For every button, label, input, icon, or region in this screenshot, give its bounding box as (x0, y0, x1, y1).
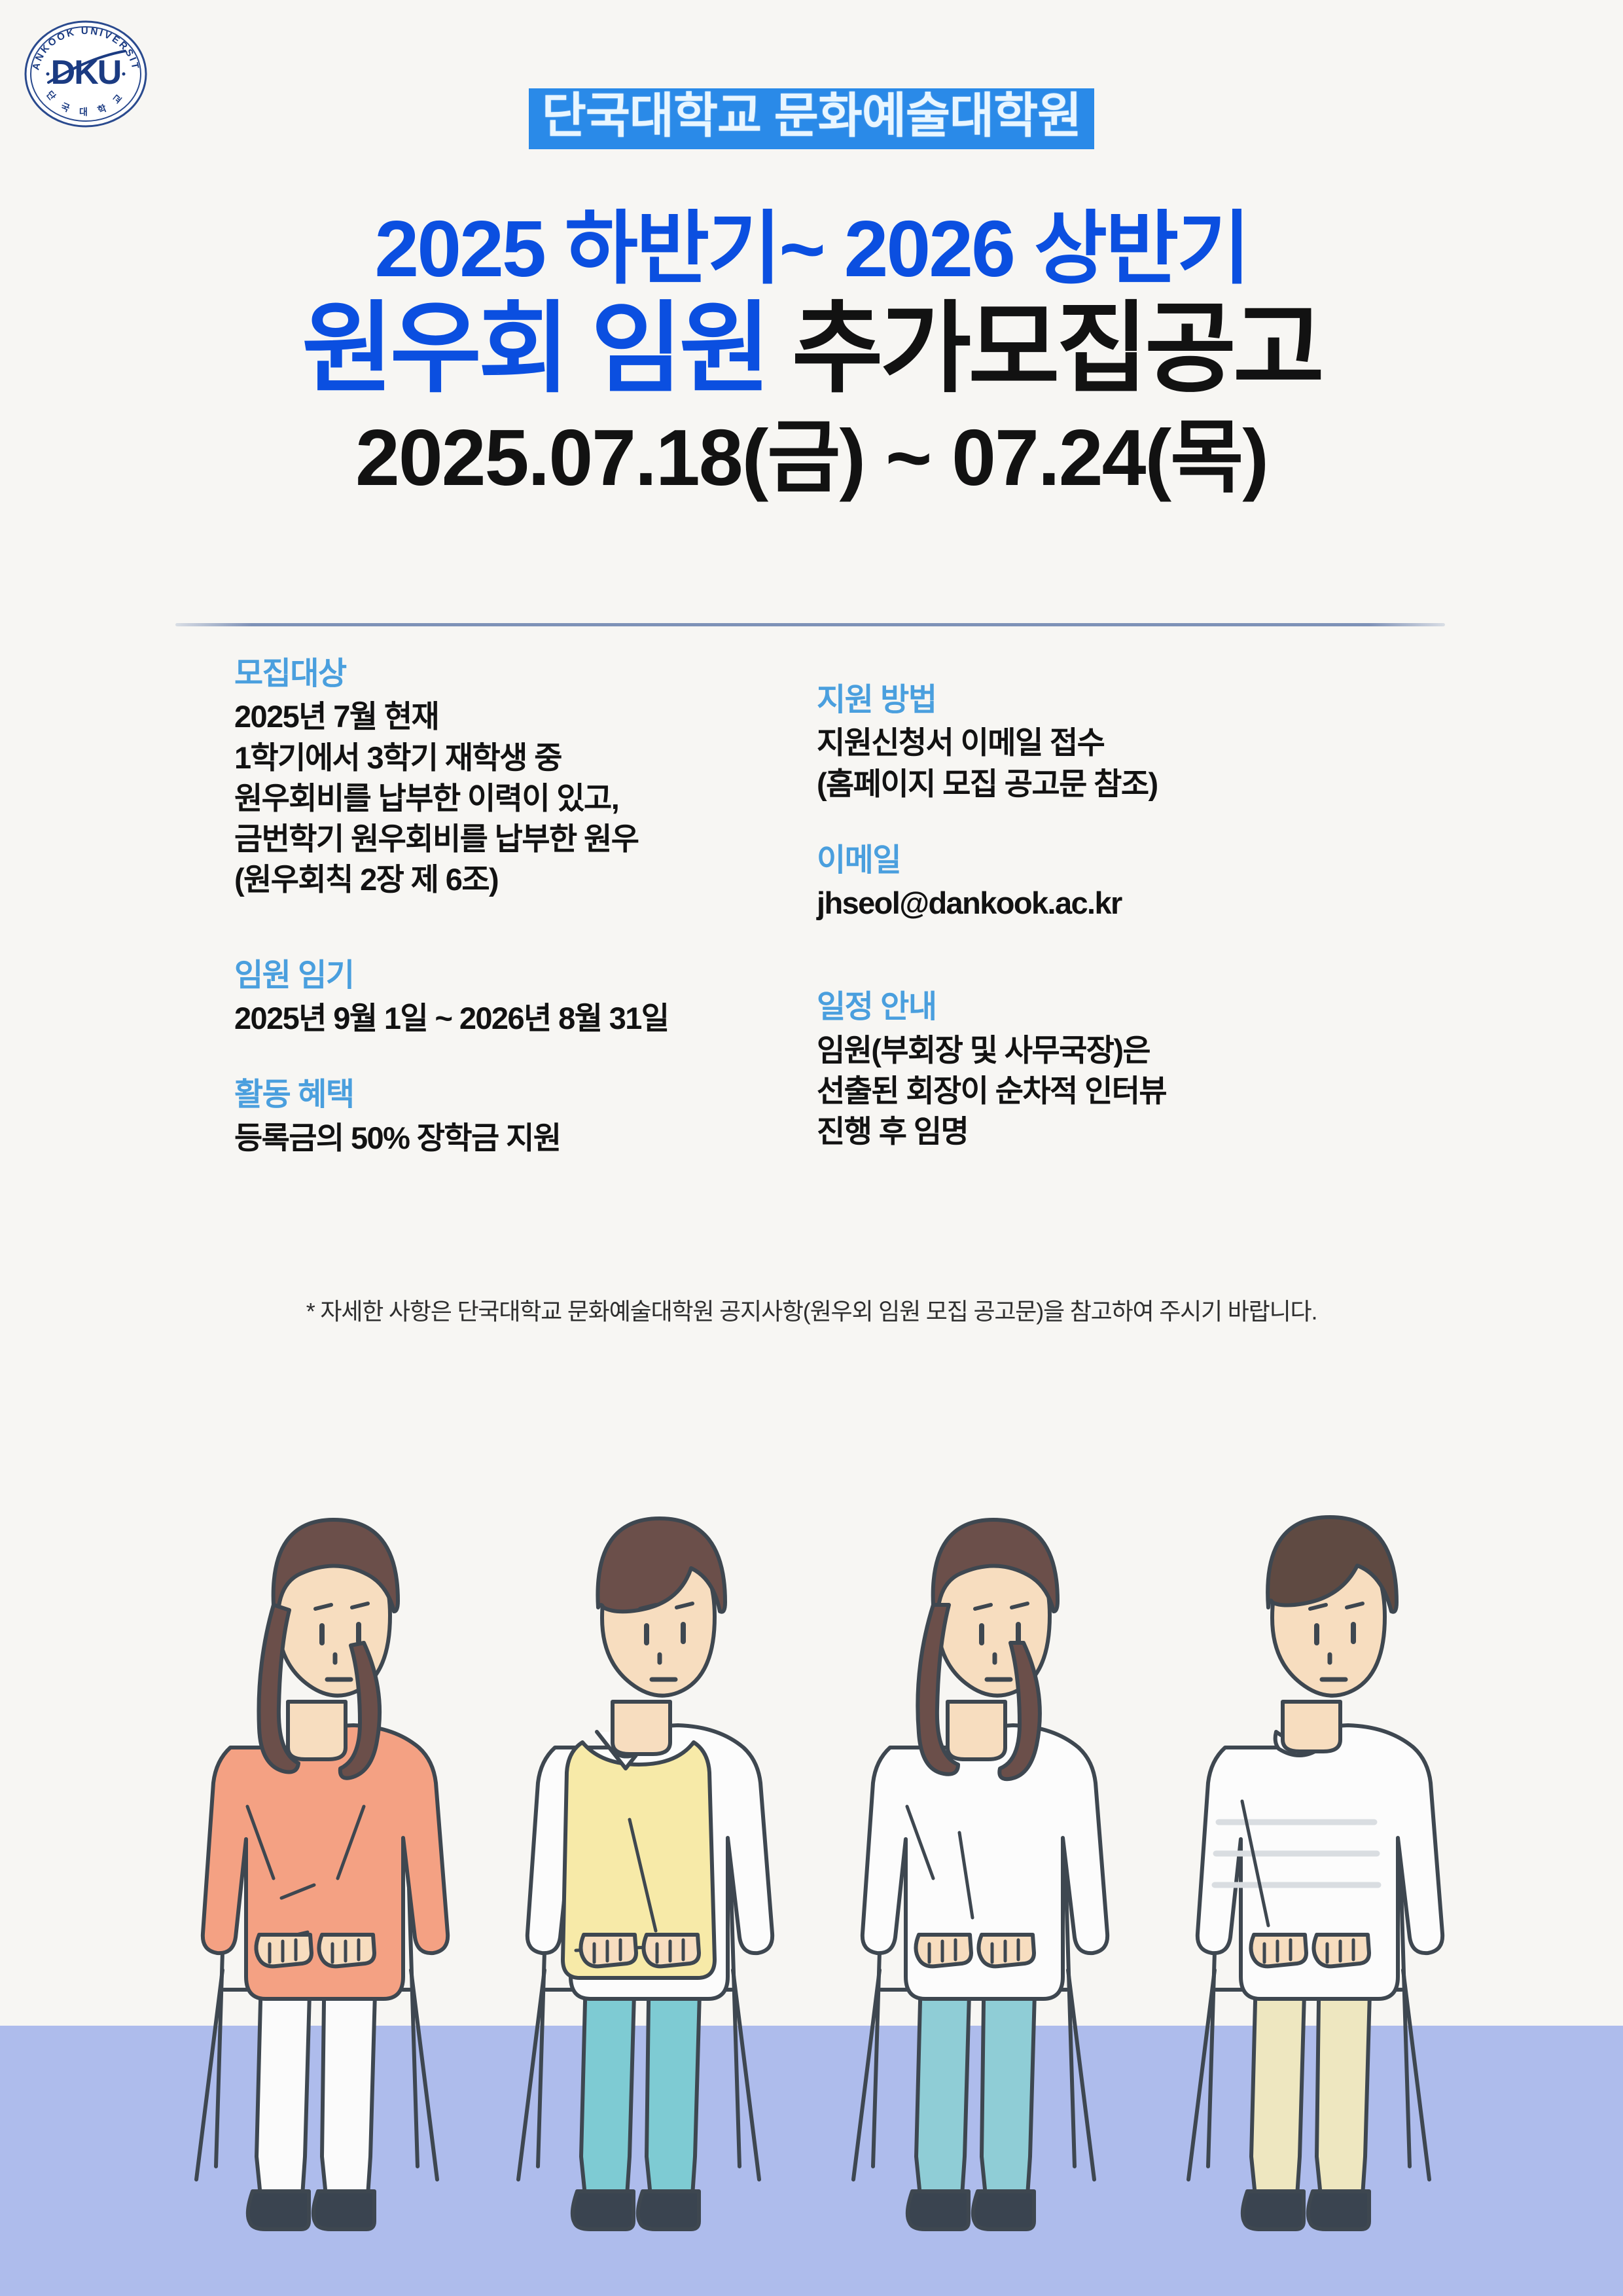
illustration-four-people-seated (0, 1361, 1623, 2296)
info-heading: 활동 혜택 (234, 1075, 784, 1115)
info-heading: 모집대상 (234, 655, 784, 694)
info-body: 2025년 7월 현재 1학기에서 3학기 재학생 중 원우회비를 납부한 이력… (234, 696, 784, 899)
banner-label: 단국대학교 문화예술대학원 (529, 88, 1095, 149)
info-column-right: 지원 방법 지원신청서 이메일 접수 (홈페이지 모집 공고문 참조) 이메일 … (817, 681, 1406, 1160)
info-block-how-to-apply: 지원 방법 지원신청서 이메일 접수 (홈페이지 모집 공고문 참조) (817, 681, 1406, 804)
footnote: * 자세한 사항은 단국대학교 문화예술대학원 공지사항(원우외 임원 모집 공… (0, 1293, 1623, 1327)
info-body: 지원신청서 이메일 접수 (홈페이지 모집 공고문 참조) (817, 723, 1406, 804)
floor-band (0, 2026, 1623, 2296)
logo-monogram: DKU (51, 54, 121, 92)
contact-email[interactable]: jhseol@dankook.ac.kr (817, 883, 1406, 924)
poster-canvas: DANKOOK UNIVERSITY 단 국 대 학 교 DKU 단국대학교 문… (0, 0, 1623, 2296)
spacer (817, 931, 1406, 988)
info-body: 등록금의 50% 장학금 지원 (234, 1118, 784, 1158)
spacer (234, 908, 784, 956)
info-block-term: 임원 임기 2025년 9월 1일 ~ 2026년 8월 31일 (234, 956, 784, 1039)
banner: 단국대학교 문화예술대학원 (0, 88, 1623, 149)
info-heading: 임원 임기 (234, 956, 784, 996)
info-block-email: 이메일 jhseol@dankook.ac.kr (817, 841, 1406, 924)
info-block-eligibility: 모집대상 2025년 7월 현재 1학기에서 3학기 재학생 중 원우회비를 납… (234, 655, 784, 900)
spacer (817, 812, 1406, 841)
title-period: 2025 하반기~ 2026 상반기 (0, 206, 1623, 293)
title-dates: 2025.07.18(금) ~ 07.24(목) (0, 413, 1623, 503)
info-heading: 이메일 (817, 841, 1406, 880)
info-block-benefit: 활동 혜택 등록금의 50% 장학금 지원 (234, 1075, 784, 1158)
title-block: 2025 하반기~ 2026 상반기 원우회 임원 추가모집공고 2025.07… (0, 206, 1623, 503)
title-main-blue: 원우회 임원 (302, 293, 767, 404)
title-main-black: 추가모집공고 (792, 293, 1321, 404)
info-column-left: 모집대상 2025년 7월 현재 1학기에서 3학기 재학생 중 원우회비를 납… (234, 655, 784, 1166)
spacer (234, 1047, 784, 1075)
info-heading: 지원 방법 (817, 681, 1406, 720)
title-main: 원우회 임원 추가모집공고 (0, 295, 1623, 403)
info-body: 임원(부회장 및 사무국장)은 선출된 회장이 순차적 인터뷰 진행 후 임명 (817, 1030, 1406, 1152)
info-heading: 일정 안내 (817, 988, 1406, 1027)
info-block-schedule: 일정 안내 임원(부회장 및 사무국장)은 선출된 회장이 순차적 인터뷰 진행… (817, 988, 1406, 1152)
info-body: 2025년 9월 1일 ~ 2026년 8월 31일 (234, 998, 784, 1039)
horizontal-divider (175, 623, 1445, 626)
